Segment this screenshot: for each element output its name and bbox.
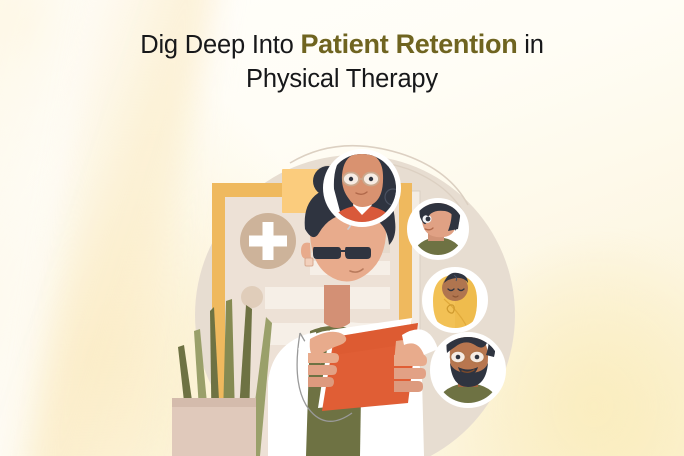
- title-suffix: in: [517, 31, 543, 59]
- title-line-1: Dig Deep Into Patient Retention in: [0, 26, 684, 62]
- banner-root: Dig Deep Into Patient Retention in Physi…: [0, 0, 684, 456]
- page-title: Dig Deep Into Patient Retention in Physi…: [0, 26, 684, 96]
- title-highlight: Patient Retention: [300, 29, 517, 59]
- avatar-swaddled-baby: [424, 269, 486, 331]
- patient-retention-illustration: [150, 125, 550, 456]
- medical-cross-icon: [240, 213, 296, 269]
- title-prefix: Dig Deep Into: [140, 31, 300, 59]
- title-line-2: Physical Therapy: [0, 62, 684, 96]
